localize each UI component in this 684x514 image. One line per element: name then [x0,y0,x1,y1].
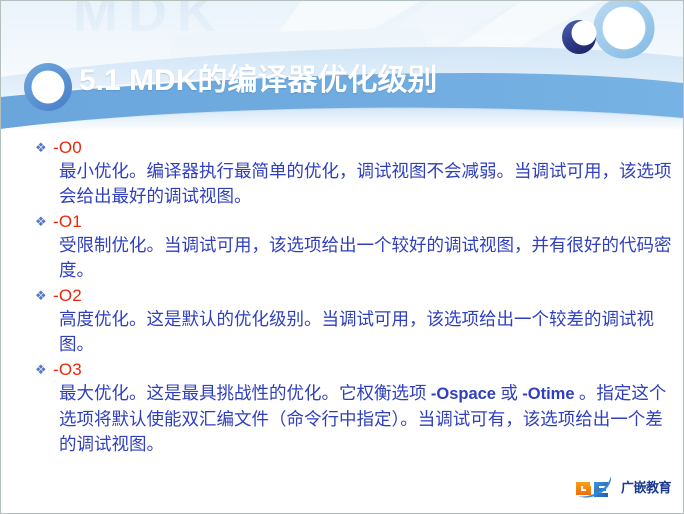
list-item-header: ❖ -O1 [33,211,673,233]
inline-text: 最小优化。编译器执行最简单的优化，调试视图不会减弱。当调试可用，该选项会给出最好… [59,161,672,206]
logo-mark-icon [573,475,619,501]
option-label: -O2 [53,285,82,307]
content-list: ❖ -O0 最小优化。编译器执行最简单的优化，调试视图不会减弱。当调试可用，该选… [33,137,673,459]
list-item-header: ❖ -O2 [33,285,673,307]
inline-text: 最大优化。这是最具挑战性的优化。它权衡选项 [59,383,431,403]
page-title-text: 5.1 MDK的编译器优化级别 [79,64,437,98]
diamond-bullet-icon: ❖ [33,285,53,307]
diamond-bullet-icon: ❖ [33,137,53,159]
option-label: -O0 [53,137,82,159]
inline-text: 或 [496,383,522,403]
option-description: 最小优化。编译器执行最简单的优化，调试视图不会减弱。当调试可用，该选项会给出最好… [59,159,673,209]
option-label: -O3 [53,359,82,381]
page-title: 5.1 MDK的编译器优化级别 [79,59,639,103]
ge-logo-icon [573,475,619,501]
list-item: ❖ -O3 最大优化。这是最具挑战性的优化。它权衡选项 -Ospace 或 -O… [33,359,673,457]
option-description: 高度优化。这是默认的优化级别。当调试可用，该选项给出一个较差的调试视图。 [59,307,673,357]
logo-text: 广嵌教育 [621,481,671,495]
list-item: ❖ -O2 高度优化。这是默认的优化级别。当调试可用，该选项给出一个较差的调试视… [33,285,673,357]
list-item-header: ❖ -O0 [33,137,673,159]
inline-option-token: -Ospace [431,385,496,403]
list-item-header: ❖ -O3 [33,359,673,381]
diamond-bullet-icon: ❖ [33,211,53,233]
slide: MDK [0,0,684,514]
list-item: ❖ -O0 最小优化。编译器执行最简单的优化，调试视图不会减弱。当调试可用，该选… [33,137,673,209]
inline-text: 受限制优化。当调试可用，该选项给出一个较好的调试视图，并有很好的代码密度。 [59,235,672,280]
option-description: 受限制优化。当调试可用，该选项给出一个较好的调试视图，并有很好的代码密度。 [59,233,673,283]
option-label: -O1 [53,211,82,233]
inline-text: 高度优化。这是默认的优化级别。当调试可用，该选项给出一个较差的调试视图。 [59,309,654,354]
diamond-bullet-icon: ❖ [33,359,53,381]
inline-option-token: -Otime [522,385,574,403]
brand-logo: 广嵌教育 [567,473,671,503]
option-description: 最大优化。这是最具挑战性的优化。它权衡选项 -Ospace 或 -Otime 。… [59,381,673,457]
list-item: ❖ -O1 受限制优化。当调试可用，该选项给出一个较好的调试视图，并有很好的代码… [33,211,673,283]
